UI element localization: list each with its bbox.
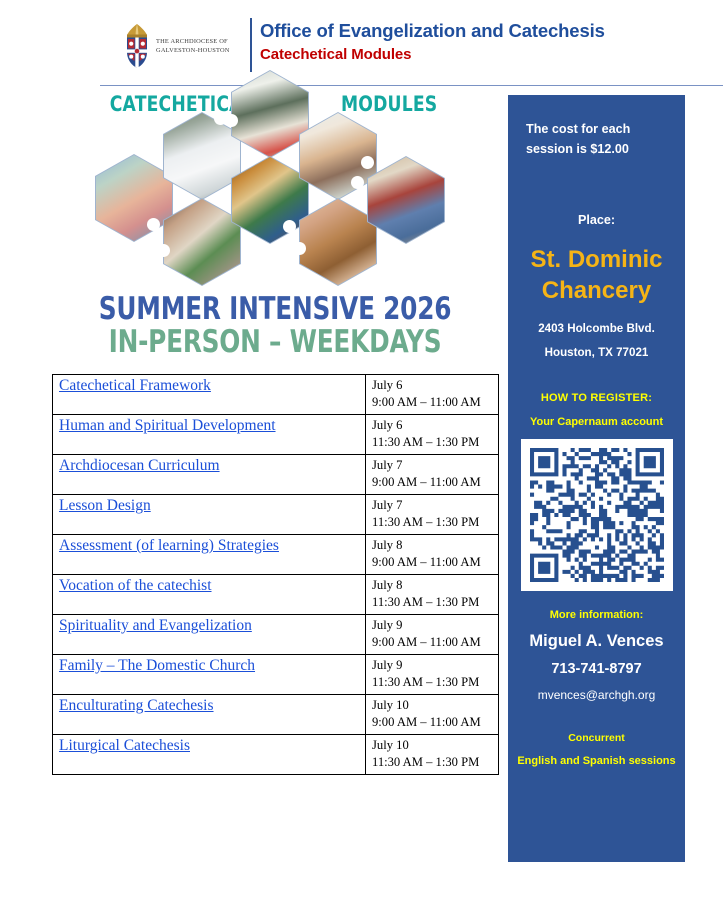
- module-cell: Lesson Design: [53, 495, 366, 535]
- table-row: Vocation of the catechistJuly 811:30 AM …: [53, 575, 499, 615]
- header-vertical-divider: [250, 18, 252, 72]
- hex-photo-catechist-teaching-classroom: [367, 156, 445, 244]
- contact-phone[interactable]: 713-741-8797: [508, 661, 685, 677]
- table-row: Spirituality and EvangelizationJuly 99:0…: [53, 615, 499, 655]
- table-row: Liturgical CatechesisJuly 1011:30 AM – 1…: [53, 735, 499, 775]
- hex-dot: [361, 156, 374, 169]
- registration-qr-code[interactable]: [521, 439, 673, 591]
- venue-name: St. Dominic Chancery: [508, 245, 685, 306]
- session-time: 11:30 AM – 1:30 PM: [372, 434, 492, 451]
- contact-name: Miguel A. Vences: [508, 632, 685, 651]
- table-row: Lesson DesignJuly 711:30 AM – 1:30 PM: [53, 495, 499, 535]
- hex-dot: [351, 176, 364, 189]
- header-rule: [100, 85, 723, 86]
- crest-wordmark-line-1: THE ARCHDIOCESE OF: [156, 37, 230, 46]
- hex-photo-parish-blessing-ceremony: [163, 198, 241, 286]
- module-cell: Liturgical Catechesis: [53, 735, 366, 775]
- session-time: 9:00 AM – 11:00 AM: [372, 394, 492, 411]
- header-title-group: Office of Evangelization and Catechesis …: [260, 20, 605, 64]
- module-link[interactable]: Catechetical Framework: [59, 377, 211, 394]
- session-time: 11:30 AM – 1:30 PM: [372, 674, 492, 691]
- session-date: July 6: [372, 417, 492, 434]
- hex-dot: [293, 242, 306, 255]
- table-row: Family – The Domestic ChurchJuly 911:30 …: [53, 655, 499, 695]
- session-date: July 10: [372, 697, 492, 714]
- session-date: July 10: [372, 737, 492, 754]
- module-link[interactable]: Spirituality and Evangelization: [59, 617, 252, 634]
- table-row: Enculturating CatechesisJuly 109:00 AM –…: [53, 695, 499, 735]
- datetime-cell: July 711:30 AM – 1:30 PM: [366, 495, 499, 535]
- session-time: 9:00 AM – 11:00 AM: [372, 554, 492, 571]
- crest-wordmark-line-2: GALVESTON-HOUSTON: [156, 46, 230, 55]
- module-cell: Vocation of the catechist: [53, 575, 366, 615]
- module-link[interactable]: Liturgical Catechesis: [59, 737, 190, 754]
- datetime-cell: July 69:00 AM – 11:00 AM: [366, 375, 499, 415]
- hex-dot: [283, 220, 296, 233]
- page-title: Office of Evangelization and Catechesis: [260, 20, 605, 43]
- module-cell: Assessment (of learning) Strategies: [53, 535, 366, 575]
- hex-dot: [147, 218, 160, 231]
- schedule-table: Catechetical FrameworkJuly 69:00 AM – 11…: [52, 374, 499, 775]
- module-link[interactable]: Vocation of the catechist: [59, 577, 212, 594]
- module-cell: Catechetical Framework: [53, 375, 366, 415]
- session-date: July 7: [372, 457, 492, 474]
- session-time: 9:00 AM – 11:00 AM: [372, 634, 492, 651]
- crest-wordmark: THE ARCHDIOCESE OF GALVESTON-HOUSTON: [156, 37, 230, 56]
- qr-code-icon: [521, 439, 673, 591]
- table-row: Catechetical FrameworkJuly 69:00 AM – 11…: [53, 375, 499, 415]
- session-date: July 8: [372, 577, 492, 594]
- table-row: Assessment (of learning) StrategiesJuly …: [53, 535, 499, 575]
- crest-icon: [122, 22, 152, 70]
- archdiocese-logo: THE ARCHDIOCESE OF GALVESTON-HOUSTON: [122, 20, 248, 72]
- hex-dot: [225, 114, 238, 127]
- place-label: Place:: [508, 213, 685, 227]
- module-link[interactable]: Human and Spiritual Development: [59, 417, 276, 434]
- datetime-cell: July 109:00 AM – 11:00 AM: [366, 695, 499, 735]
- hexagon-photo-grid: [95, 92, 475, 252]
- session-date: July 9: [372, 657, 492, 674]
- info-sidebar: The cost for each session is $12.00 Plac…: [508, 95, 685, 862]
- session-time: 9:00 AM – 11:00 AM: [372, 714, 492, 731]
- register-note: Your Capernaum account: [508, 416, 685, 428]
- languages-label: English and Spanish sessions: [508, 755, 685, 767]
- session-date: July 9: [372, 617, 492, 634]
- datetime-cell: July 1011:30 AM – 1:30 PM: [366, 735, 499, 775]
- datetime-cell: July 911:30 AM – 1:30 PM: [366, 655, 499, 695]
- headline-primary: SUMMER INTENSIVE 2026: [97, 294, 454, 325]
- address-line-1: 2403 Holcombe Blvd.: [508, 322, 685, 335]
- module-cell: Spirituality and Evangelization: [53, 615, 366, 655]
- address-line-2: Houston, TX 77021: [508, 346, 685, 359]
- hex-photo-hands-holding-wooden-cross: [299, 198, 377, 286]
- table-row: Archdiocesan CurriculumJuly 79:00 AM – 1…: [53, 455, 499, 495]
- session-time: 11:30 AM – 1:30 PM: [372, 594, 492, 611]
- schedule-table-body: Catechetical FrameworkJuly 69:00 AM – 11…: [53, 375, 499, 775]
- datetime-cell: July 811:30 AM – 1:30 PM: [366, 575, 499, 615]
- datetime-cell: July 79:00 AM – 11:00 AM: [366, 455, 499, 495]
- cost-text: The cost for each session is $12.00: [508, 120, 685, 159]
- table-row: Human and Spiritual DevelopmentJuly 611:…: [53, 415, 499, 455]
- page-header: THE ARCHDIOCESE OF GALVESTON-HOUSTON Off…: [0, 0, 723, 86]
- module-cell: Archdiocesan Curriculum: [53, 455, 366, 495]
- module-link[interactable]: Family – The Domestic Church: [59, 657, 255, 674]
- page-subtitle: Catechetical Modules: [260, 45, 605, 65]
- hero-collage: CATECHETICAL MODULES: [95, 92, 475, 252]
- datetime-cell: July 611:30 AM – 1:30 PM: [366, 415, 499, 455]
- module-cell: Human and Spiritual Development: [53, 415, 366, 455]
- concurrent-label: Concurrent: [508, 732, 685, 744]
- session-time: 11:30 AM – 1:30 PM: [372, 514, 492, 531]
- more-information-label: More information:: [508, 609, 685, 621]
- datetime-cell: July 99:00 AM – 11:00 AM: [366, 615, 499, 655]
- how-to-register-label: HOW TO REGISTER:: [508, 392, 685, 404]
- module-cell: Family – The Domestic Church: [53, 655, 366, 695]
- hex-photo-children-praying-outdoors: [95, 154, 173, 242]
- session-date: July 6: [372, 377, 492, 394]
- session-time: 11:30 AM – 1:30 PM: [372, 754, 492, 771]
- module-link[interactable]: Archdiocesan Curriculum: [59, 457, 220, 474]
- module-link[interactable]: Assessment (of learning) Strategies: [59, 537, 279, 554]
- module-link[interactable]: Enculturating Catechesis: [59, 697, 214, 714]
- session-time: 9:00 AM – 11:00 AM: [372, 474, 492, 491]
- hex-photo-our-lady-of-guadalupe-dancers: [231, 156, 309, 244]
- datetime-cell: July 89:00 AM – 11:00 AM: [366, 535, 499, 575]
- hex-dot: [157, 244, 170, 257]
- module-link[interactable]: Lesson Design: [59, 497, 151, 514]
- session-date: July 8: [372, 537, 492, 554]
- headline-secondary: IN-PERSON – WEEKDAYS: [97, 327, 454, 358]
- session-date: July 7: [372, 497, 492, 514]
- module-cell: Enculturating Catechesis: [53, 695, 366, 735]
- contact-email[interactable]: mvences@archgh.org: [508, 688, 685, 702]
